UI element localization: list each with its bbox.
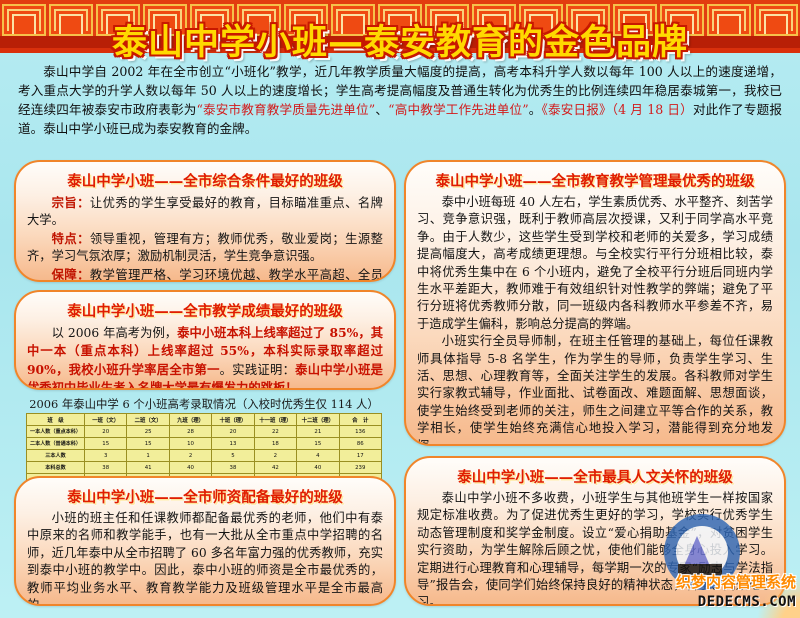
- intro-award-2: “高中教学工作先进单位”: [388, 102, 529, 117]
- table-row: 二本人数（普通本科）15151013181586: [27, 438, 382, 450]
- table-cell: 17: [339, 450, 381, 462]
- page-title: 泰山中学小班—泰安教育的金色品牌: [112, 14, 688, 65]
- panel-title-best-management: 泰山中学小班——全市教育教学管理最优秀的班级: [417, 170, 773, 191]
- page-title-wrapper: 泰山中学小班—泰安教育的金色品牌: [0, 14, 800, 65]
- table-cell: 86: [339, 438, 381, 450]
- panel-best-overall-conditions: 泰山中学小班——全市综合条件最好的班级 宗旨：让优秀的学生享受最好的教育，目标瞄…: [14, 160, 396, 282]
- panel-best-academic-results: 泰山中学小班——全市教学成绩最好的班级 以 2006 年高考为例，泰中小班本科上…: [14, 290, 396, 390]
- table-row-label: 三本人数: [27, 450, 85, 462]
- panel-body-best-academic-results: 以 2006 年高考为例，泰中小班本科上线率超过了 85%，其中一本（重点本科）…: [27, 324, 383, 390]
- intro-separator-1: 、: [375, 102, 388, 117]
- table-cell: 38: [85, 462, 127, 474]
- watermark-line-2: DEDECMS.COM: [628, 594, 796, 610]
- panel-title-best-teaching-staff: 泰山中学小班——全市师资配备最好的班级: [27, 486, 383, 507]
- panel-title-best-overall-conditions: 泰山中学小班——全市综合条件最好的班级: [27, 170, 383, 191]
- intro-separator-2: 。: [529, 102, 542, 117]
- text-management-2: 小班实行全员导师制，在班主任管理的基础上，每位任课教师具体指导 5-8 名学生，…: [417, 333, 773, 446]
- text-management-1: 泰中小班每班 40 人左右，学生素质优秀、水平整齐、刻苦学习、竞争意识强，既利于…: [417, 194, 773, 333]
- table-column-header: 十班（理）: [212, 414, 254, 426]
- table-cell: 15: [297, 438, 339, 450]
- table-cell: 5: [212, 450, 254, 462]
- table-cell: 2: [254, 450, 296, 462]
- watermark-fan-icon: [684, 536, 710, 566]
- panel-body-best-teaching-staff: 小班的班主任和任课教师都配备最优秀的老师，他们中有泰中原来的名师和教学能手，也有…: [27, 510, 383, 606]
- table-cell: 22: [254, 426, 296, 438]
- table-column-header: 班 级: [27, 414, 85, 426]
- panel-title-best-academic-results: 泰山中学小班——全市教学成绩最好的班级: [27, 300, 383, 321]
- label-purpose: 宗旨：: [52, 195, 90, 210]
- admissions-table-block: 2006 年泰山中学 6 个小班高考录取情况（入校时优秀生仅 114 人） 班 …: [26, 396, 382, 486]
- table-cell: 13: [212, 438, 254, 450]
- table-row: 一本人数（重点本科）202528202221136: [27, 426, 382, 438]
- table-cell: 40: [169, 462, 211, 474]
- table-cell: 28: [169, 426, 211, 438]
- table-row-label: 一本人数（重点本科）: [27, 426, 85, 438]
- table-column-header: 合 计: [339, 414, 381, 426]
- watermark-line-1: 织梦内容管理系统: [628, 571, 796, 592]
- intro-newspaper-date: （4 月 18 日）: [612, 102, 693, 117]
- table-column-header: 十二班（理）: [297, 414, 339, 426]
- table-caption: 2006 年泰山中学 6 个小班高考录取情况（入校时优秀生仅 114 人）: [26, 396, 382, 412]
- table-cell: 21: [297, 426, 339, 438]
- label-features: 特点：: [52, 231, 90, 246]
- table-cell: 42: [254, 462, 296, 474]
- table-row-label: 本科总数: [27, 462, 85, 474]
- table-cell: 3: [85, 450, 127, 462]
- panel-title-most-humane-care: 泰山中学小班——全市最具人文关怀的班级: [417, 466, 773, 487]
- table-row: 三本人数31252417: [27, 450, 382, 462]
- table-cell: 38: [212, 462, 254, 474]
- table-cell: 15: [85, 438, 127, 450]
- table-column-header: 九班（理）: [169, 414, 211, 426]
- text-teaching-staff: 小班的班主任和任课教师都配备最优秀的老师，他们中有泰中原来的名师和教学能手，也有…: [27, 510, 383, 606]
- intro-award-1: “泰安市教育教学质量先进单位”: [196, 102, 375, 117]
- table-column-header: 二班（文）: [127, 414, 169, 426]
- table-cell: 10: [169, 438, 211, 450]
- table-cell: 25: [127, 426, 169, 438]
- table-cell: 41: [127, 462, 169, 474]
- table-cell: 2: [169, 450, 211, 462]
- table-row: 本科总数384140384240239: [27, 462, 382, 474]
- table-cell: 40: [297, 462, 339, 474]
- panel-body-best-management: 泰中小班每班 40 人左右，学生素质优秀、水平整齐、刻苦学习、竞争意识强，既利于…: [417, 194, 773, 446]
- table-column-header: 十一班（理）: [254, 414, 296, 426]
- table-cell: 4: [297, 450, 339, 462]
- table-cell: 18: [254, 438, 296, 450]
- table-column-header: 一班（文）: [85, 414, 127, 426]
- panel-best-management: 泰山中学小班——全市教育教学管理最优秀的班级 泰中小班每班 40 人左右，学生素…: [404, 160, 786, 446]
- panel-best-teaching-staff: 泰山中学小班——全市师资配备最好的班级 小班的班主任和任课教师都配备最优秀的老师…: [14, 476, 396, 606]
- table-header-row: 班 级一班（文）二班（文）九班（理）十班（理）十一班（理）十二班（理）合 计: [27, 414, 382, 426]
- intro-newspaper-name: 《泰安日报》: [542, 102, 612, 117]
- intro-paragraph: 泰山中学自 2002 年在全市创立“小班化”教学，近几年教学质量大幅度的提高，高…: [18, 62, 782, 138]
- table-cell: 15: [127, 438, 169, 450]
- watermark: 织梦内容管理系统 DEDECMS.COM: [624, 524, 796, 616]
- table-cell: 136: [339, 426, 381, 438]
- table-cell: 20: [85, 426, 127, 438]
- table-cell: 239: [339, 462, 381, 474]
- table-row-label: 二本人数（普通本科）: [27, 438, 85, 450]
- results-text-1: 以 2006 年高考为例，: [52, 326, 178, 340]
- table-cell: 1: [127, 450, 169, 462]
- table-cell: 20: [212, 426, 254, 438]
- panel-body-best-overall-conditions: 宗旨：让优秀的学生享受最好的教育，目标瞄准重点、名牌大学。 特点：领导重视，管理…: [27, 194, 383, 282]
- results-text-2: 。实践证明：: [220, 363, 296, 377]
- poster-root: 泰山中学小班—泰安教育的金色品牌 泰山中学自 2002 年在全市创立“小班化”教…: [0, 0, 800, 618]
- label-guarantee: 保障：: [52, 267, 90, 282]
